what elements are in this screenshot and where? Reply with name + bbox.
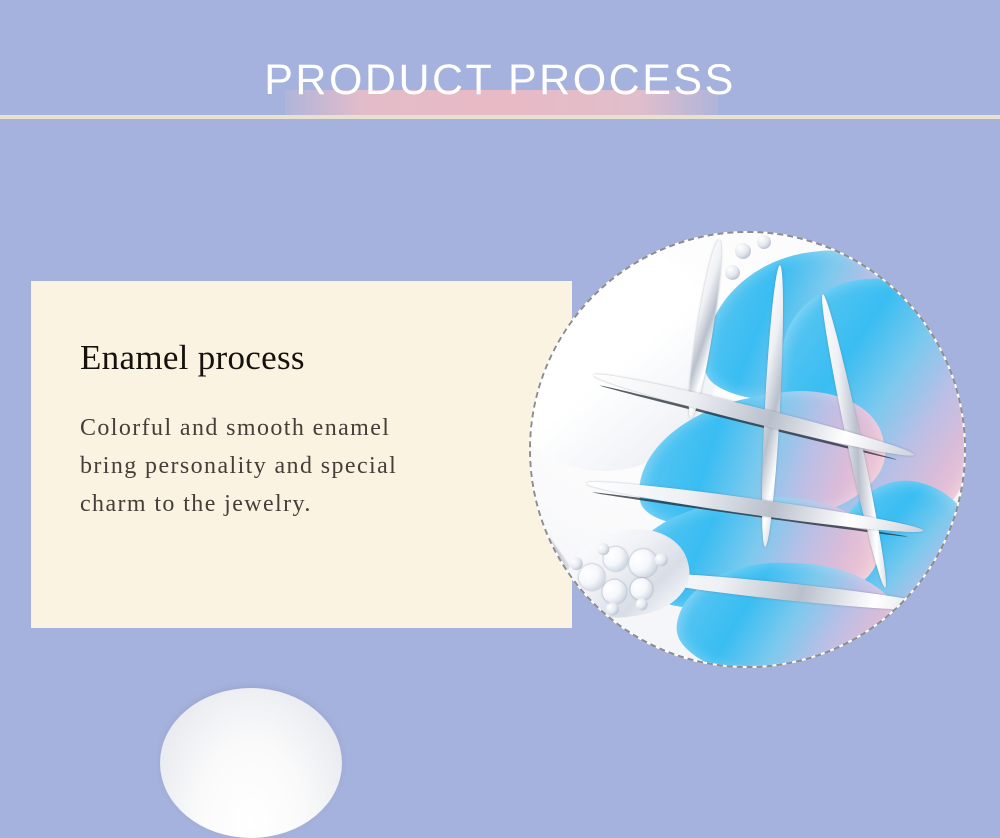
product-photo-image xyxy=(529,231,966,668)
prong-bead xyxy=(635,597,649,611)
prong-bead xyxy=(605,601,620,616)
card-description-line: bring personality and special xyxy=(80,447,540,485)
enamel-process-card: Enamel process Colorful and smooth ename… xyxy=(31,281,572,628)
header-divider-rule xyxy=(0,115,1000,119)
prong-bead xyxy=(757,235,771,249)
card-description-line: charm to the jewelry. xyxy=(80,485,540,523)
card-description: Colorful and smooth enamel bring persona… xyxy=(80,409,540,523)
page-header: PRODUCT PROCESS xyxy=(0,0,1000,128)
prong-bead xyxy=(725,265,740,280)
card-heading: Enamel process xyxy=(80,338,305,378)
prong-bead xyxy=(735,243,751,259)
product-photo-circle xyxy=(529,231,966,668)
card-description-line: Colorful and smooth enamel xyxy=(80,409,540,447)
page-title: PRODUCT PROCESS xyxy=(0,58,1000,103)
